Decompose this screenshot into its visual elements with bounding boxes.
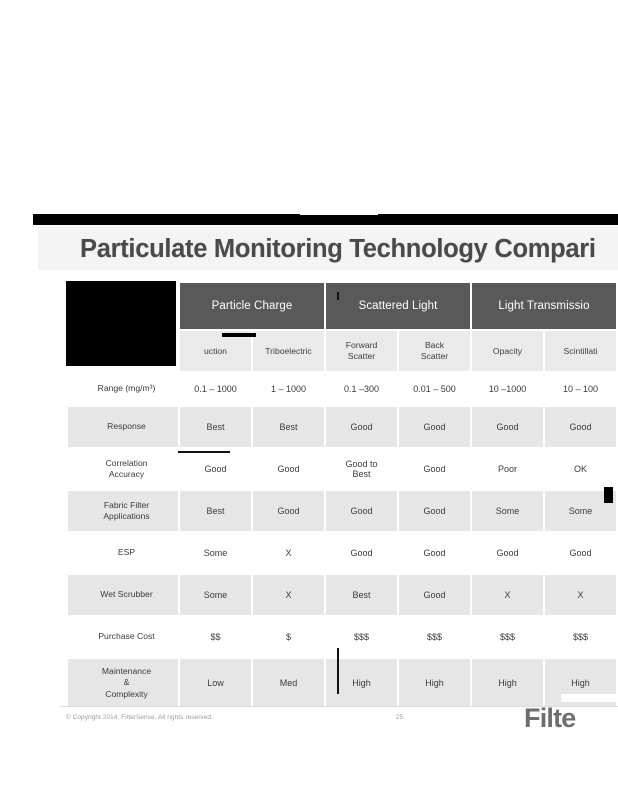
table-cell: Best [180, 407, 251, 447]
table-cell: Good [472, 533, 543, 573]
sub-header-scintillation: Scintillati [545, 331, 616, 371]
table-cell: OK [545, 449, 616, 489]
table-row: Maintenance&ComplexityLowMedHighHighHigh… [68, 659, 616, 707]
table-cell: Good [399, 533, 470, 573]
sub-header-forward-scatter: ForwardScatter [326, 331, 397, 371]
row-label: Fabric FilterApplications [68, 491, 178, 531]
group-header-scattered-light: Scattered Light [326, 283, 470, 329]
table-cell: Good [326, 491, 397, 531]
table-cell: Good [545, 533, 616, 573]
sub-header-triboelectric: Triboelectric [253, 331, 324, 371]
row-label: Maintenance&Complexity [68, 659, 178, 707]
table-cell: $$ [180, 617, 251, 657]
table-cell: $$$ [545, 617, 616, 657]
scan-left-margin [0, 0, 30, 800]
table-cell: Good [253, 449, 324, 489]
footer-page-number: 25 [396, 714, 403, 721]
row-label: Range (mg/m³) [68, 373, 178, 405]
table-cell: Good [399, 491, 470, 531]
table-cell: Good toBest [326, 449, 397, 489]
table-row: Wet ScrubberSomeXBestGoodXX [68, 575, 616, 615]
table-row: ResponseBestBestGoodGoodGoodGood [68, 407, 616, 447]
redaction-box-artifact [66, 281, 176, 366]
table-cell: Best [326, 575, 397, 615]
table-cell: X [253, 575, 324, 615]
table-cell: Med [253, 659, 324, 707]
black-square-artifact [604, 487, 613, 503]
row-label: Response [68, 407, 178, 447]
table-cell: Good [399, 407, 470, 447]
row-label: CorrelationAccuracy [68, 449, 178, 489]
row-label: Wet Scrubber [68, 575, 178, 615]
table-cell: High [399, 659, 470, 707]
row-label: ESP [68, 533, 178, 573]
top-faint-text [300, 206, 378, 215]
row-label: Purchase Cost [68, 617, 178, 657]
vertical-line-artifact-lower [337, 648, 339, 694]
table-cell: 10 –1000 [472, 373, 543, 405]
sub-header-opacity: Opacity [472, 331, 543, 371]
table-row: CorrelationAccuracyGoodGoodGood toBestGo… [68, 449, 616, 489]
table-cell: Best [253, 407, 324, 447]
table-cell: X [472, 575, 543, 615]
table-cell: Good [472, 407, 543, 447]
white-patch-artifact [561, 694, 618, 702]
group-header-particle-charge: Particle Charge [180, 283, 324, 329]
table-cell: Good [326, 407, 397, 447]
table-cell: 0.1 –300 [326, 373, 397, 405]
table-cell: 1 – 1000 [253, 373, 324, 405]
table-cell: Good [399, 449, 470, 489]
group-header-light-transmission: Light Transmissio [472, 283, 616, 329]
slide-canvas: Particulate Monitoring Technology Compar… [0, 0, 618, 800]
table-cell: Best [180, 491, 251, 531]
table-cell: $ [253, 617, 324, 657]
sub-header-back-scatter: BackScatter [399, 331, 470, 371]
table-cell: Low [180, 659, 251, 707]
vertical-line-artifact-upper [337, 292, 339, 300]
table-cell: 0.1 – 1000 [180, 373, 251, 405]
filtersense-logo: Filte [524, 703, 618, 733]
table-cell: Some [180, 533, 251, 573]
table-cell: X [545, 575, 616, 615]
table-cell: 10 – 100 [545, 373, 616, 405]
table-cell: Poor [472, 449, 543, 489]
table-cell: Good [253, 491, 324, 531]
table-cell: 0.01 – 500 [399, 373, 470, 405]
table-cell: Good [180, 449, 251, 489]
sub-header-induction: uction [180, 331, 251, 371]
table-cell: Some [472, 491, 543, 531]
page-title: Particulate Monitoring Technology Compar… [80, 231, 618, 267]
table-row: Range (mg/m³)0.1 – 10001 – 10000.1 –3000… [68, 373, 616, 405]
table-row: Fabric FilterApplicationsBestGoodGoodGoo… [68, 491, 616, 531]
top-black-bar-artifact [33, 214, 618, 225]
table-row: ESPSomeXGoodGoodGoodGood [68, 533, 616, 573]
table-cell: High [472, 659, 543, 707]
black-dash-artifact [222, 333, 256, 337]
table-cell: X [253, 533, 324, 573]
table-cell: Some [180, 575, 251, 615]
underline-artifact [178, 451, 230, 453]
table-body: Range (mg/m³)0.1 – 10001 – 10000.1 –3000… [68, 373, 616, 707]
footer-copyright: © Copyright 2014, FilterSense. All right… [66, 714, 213, 721]
table-row: Purchase Cost$$$$$$$$$$$$$$$ [68, 617, 616, 657]
table-cell: $$$ [472, 617, 543, 657]
table-cell: Good [399, 575, 470, 615]
table-cell: $$$ [399, 617, 470, 657]
table-cell: Good [326, 533, 397, 573]
table-cell: Good [545, 407, 616, 447]
